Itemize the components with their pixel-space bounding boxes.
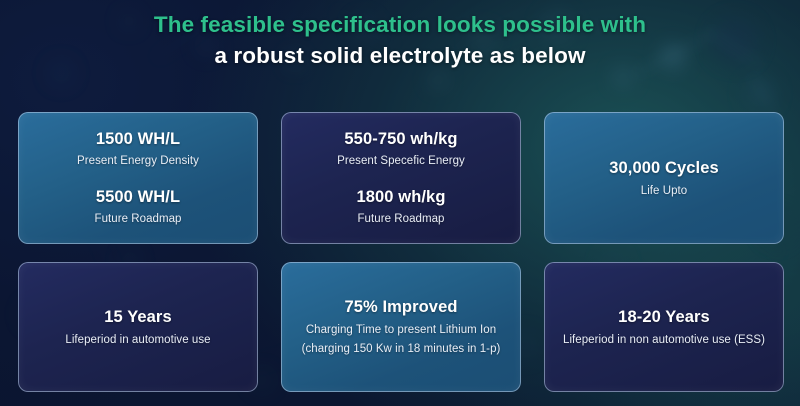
- spec-label: Future Roadmap: [95, 211, 182, 228]
- slide-heading: The feasible specification looks possibl…: [0, 10, 800, 72]
- spec-card-specific-energy[interactable]: 550-750 wh/kgPresent Specefic Energy1800…: [281, 112, 521, 244]
- spec-label: Charging Time to present Lithium Ion: [306, 322, 496, 339]
- spec-card-cycle-life[interactable]: 30,000 CyclesLife Upto: [544, 112, 784, 244]
- spec-entry: 75% ImprovedCharging Time to present Lit…: [302, 296, 501, 358]
- spec-label: Future Roadmap: [357, 211, 444, 228]
- spec-entry: 1800 wh/kgFuture Roadmap: [356, 186, 445, 228]
- spec-entry: 18-20 YearsLifeperiod in non automotive …: [563, 306, 765, 349]
- slide-canvas: The feasible specification looks possibl…: [0, 0, 800, 406]
- spec-label: Lifeperiod in non automotive use (ESS): [563, 332, 765, 349]
- spec-entry: 550-750 wh/kgPresent Specefic Energy: [337, 128, 465, 170]
- spec-card-automotive-lifeperiod[interactable]: 15 YearsLifeperiod in automotive use: [18, 262, 258, 392]
- spec-entry: 15 YearsLifeperiod in automotive use: [65, 306, 210, 349]
- heading-line-2: a robust solid electrolyte as below: [0, 40, 800, 72]
- spec-label: Present Energy Density: [77, 153, 199, 170]
- spec-label: Life Upto: [641, 183, 687, 200]
- spec-entry: 30,000 CyclesLife Upto: [609, 157, 719, 200]
- spec-value: 15 Years: [104, 306, 172, 328]
- spec-card-charging-time[interactable]: 75% ImprovedCharging Time to present Lit…: [281, 262, 521, 392]
- spec-value: 75% Improved: [344, 296, 457, 318]
- spec-card-energy-density[interactable]: 1500 WH/LPresent Energy Density5500 WH/L…: [18, 112, 258, 244]
- spec-label-secondary: (charging 150 Kw in 18 minutes in 1-p): [302, 341, 501, 358]
- spec-value: 1800 wh/kg: [356, 186, 445, 208]
- spec-card-non-automotive-lifeperiod[interactable]: 18-20 YearsLifeperiod in non automotive …: [544, 262, 784, 392]
- spec-entry: 5500 WH/LFuture Roadmap: [95, 186, 182, 228]
- spec-value: 30,000 Cycles: [609, 157, 719, 179]
- spec-value: 1500 WH/L: [96, 128, 180, 150]
- spec-value: 18-20 Years: [618, 306, 710, 328]
- spec-label: Lifeperiod in automotive use: [65, 332, 210, 349]
- spec-value: 550-750 wh/kg: [344, 128, 457, 150]
- spec-value: 5500 WH/L: [96, 186, 180, 208]
- spec-card-grid: 1500 WH/LPresent Energy Density5500 WH/L…: [18, 112, 784, 392]
- heading-line-1: The feasible specification looks possibl…: [0, 10, 800, 40]
- spec-entry: 1500 WH/LPresent Energy Density: [77, 128, 199, 170]
- spec-label: Present Specefic Energy: [337, 153, 465, 170]
